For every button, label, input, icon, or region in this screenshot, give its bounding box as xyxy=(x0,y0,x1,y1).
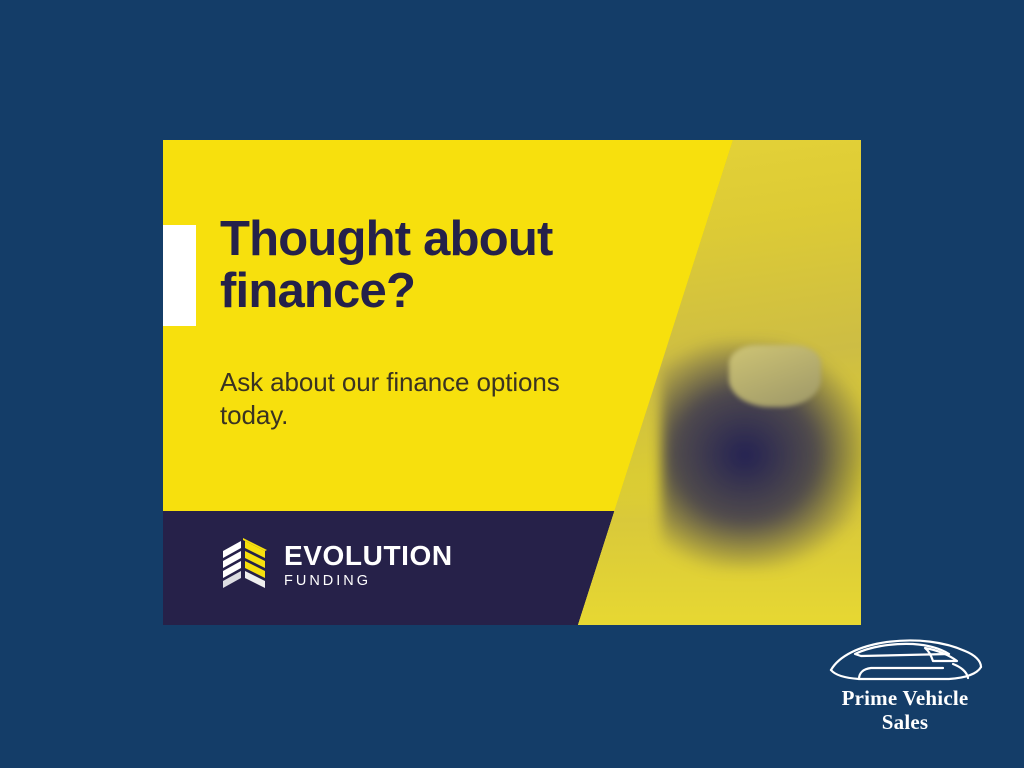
photo-wrist xyxy=(729,345,821,407)
evolution-funding-wordmark: EVOLUTION FUNDING xyxy=(284,542,453,589)
promo-subheading: Ask about our finance options today. xyxy=(220,366,620,433)
dealer-name-line2: Sales xyxy=(812,711,998,735)
evolution-cube-icon xyxy=(220,537,272,593)
brand-tagline: FUNDING xyxy=(284,574,453,589)
finance-promo-card[interactable]: Thought about finance? Ask about our fin… xyxy=(163,140,861,625)
evolution-funding-logo[interactable]: EVOLUTION FUNDING xyxy=(220,537,453,593)
brand-name: EVOLUTION xyxy=(284,542,453,570)
prime-vehicle-sales-logo[interactable]: Prime Vehicle Sales xyxy=(812,634,998,734)
sports-car-outline-icon xyxy=(812,634,998,686)
white-accent-bar xyxy=(163,225,196,326)
page-title: Thought about finance? xyxy=(220,213,650,318)
dealer-name-line1: Prime Vehicle xyxy=(812,687,998,711)
dealer-name: Prime Vehicle Sales xyxy=(812,687,998,734)
